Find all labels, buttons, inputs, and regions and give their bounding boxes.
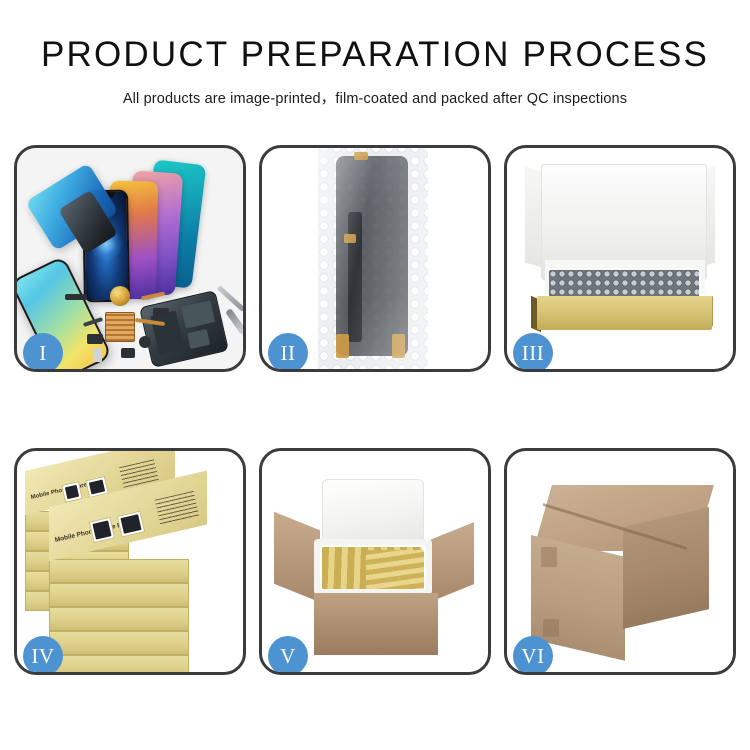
yellow-box-tray-icon: [537, 296, 712, 330]
carton-side-face: [623, 507, 709, 629]
header: PRODUCT PREPARATION PROCESS All products…: [0, 0, 750, 108]
chip-grid-part-icon: [105, 312, 135, 342]
spare-part-icon: [153, 308, 169, 316]
process-step-card-1[interactable]: I: [14, 145, 246, 372]
step-badge-3: III: [513, 333, 553, 372]
product-preparation-infographic: PRODUCT PREPARATION PROCESS All products…: [0, 0, 750, 750]
carton-body-icon: [314, 593, 438, 655]
step-badge-2: II: [268, 333, 308, 372]
process-step-card-4[interactable]: Mobile Phone Spare Parts Mobile Phone Sp…: [14, 448, 246, 675]
spare-part-icon: [139, 336, 151, 348]
bubble-wrap-bag-icon: [318, 148, 428, 369]
spare-part-icon: [121, 348, 135, 358]
process-step-card-3[interactable]: III: [504, 145, 736, 372]
process-step-card-2[interactable]: II: [259, 145, 491, 372]
page-title: PRODUCT PREPARATION PROCESS: [0, 36, 750, 75]
step-badge-5: V: [268, 636, 308, 675]
step-badge-1: I: [23, 333, 63, 372]
speaker-ring-part-icon: [110, 286, 130, 306]
phone-teardown-icon: [139, 290, 229, 368]
spare-part-icon: [87, 334, 103, 344]
carton-tape-icon: [541, 547, 557, 567]
stacked-box: [49, 655, 189, 672]
foam-box-walls-icon: [314, 539, 432, 595]
step-badge-6: VI: [513, 636, 553, 675]
stacked-box: [49, 607, 189, 631]
stacked-box: [49, 631, 189, 655]
spare-part-icon: [65, 294, 87, 300]
carton-flap-right: [430, 522, 474, 602]
process-step-card-5[interactable]: V: [259, 448, 491, 675]
step-badge-4: IV: [23, 636, 63, 675]
screwdriver-icon: [225, 308, 243, 335]
process-step-grid: I II: [14, 145, 736, 675]
stacked-box: [49, 559, 189, 583]
bag-sheen: [318, 148, 428, 369]
page-subtitle: All products are image-printed，film-coat…: [0, 87, 750, 108]
carton-tape-icon: [543, 619, 559, 637]
stacked-box: [49, 583, 189, 607]
spare-part-icon: [93, 348, 102, 362]
foam-box-lid-icon: [322, 479, 424, 545]
process-step-card-6[interactable]: VI: [504, 448, 736, 675]
